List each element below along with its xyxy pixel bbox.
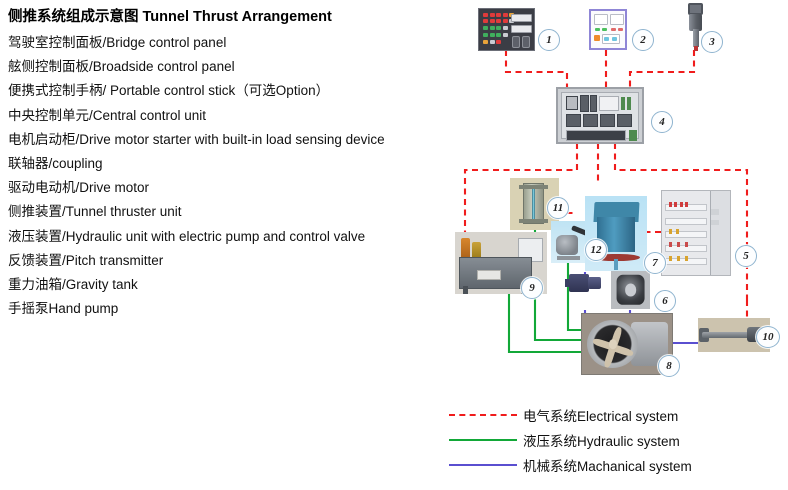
green-module <box>621 97 625 110</box>
badge-3: 3 <box>701 31 723 53</box>
lever-knob <box>512 36 520 48</box>
hydraulic-line-swatch <box>449 439 517 441</box>
plc-module <box>580 95 589 112</box>
legend-row-hydraulic: 液压系统Hydraulic system <box>449 427 788 452</box>
lever-knob <box>522 36 530 48</box>
stick-tip <box>694 46 698 51</box>
motor-nose <box>588 277 601 289</box>
badge-6: 6 <box>654 290 676 312</box>
system-legend: 电气系统Electrical system 液压系统Hydraulic syst… <box>449 402 788 477</box>
transmitter-rod <box>702 332 752 337</box>
central-control-unit[interactable] <box>556 87 644 144</box>
list-item-1: 驾驶室控制面板/Bridge control panel <box>8 31 460 55</box>
broadside-control-panel-image <box>591 11 625 48</box>
list-item-11: 重力油箱/Gravity tank <box>8 273 460 297</box>
badge-8: 8 <box>658 355 680 377</box>
breaker <box>600 114 615 127</box>
thruster-shaft <box>614 259 619 270</box>
legend-row-electrical: 电气系统Electrical system <box>449 402 788 427</box>
badge-10: 10 <box>756 326 780 348</box>
display-window <box>511 14 532 22</box>
starter-cabinet-image <box>662 191 730 275</box>
list-item-6: 联轴器/coupling <box>8 152 460 176</box>
badge-4: 4 <box>651 111 673 133</box>
display-window <box>594 14 608 25</box>
module <box>566 96 578 110</box>
pump-body <box>556 235 578 255</box>
plc-module <box>590 95 597 112</box>
badge-1: 1 <box>538 29 560 51</box>
green-terminal <box>629 130 637 141</box>
pump-base <box>557 256 581 259</box>
motor-body <box>569 274 589 292</box>
terminal-strip <box>599 96 619 111</box>
breaker <box>583 114 598 127</box>
drive-motor-starter-cabinet[interactable] <box>661 190 731 276</box>
page-title: 侧推系统组成示意图 Tunnel Thrust Arrangement <box>8 6 460 28</box>
legend-row-mechanical: 机械系统Machanical system <box>449 452 788 477</box>
tunnel-mouth <box>587 320 637 368</box>
cabinet-interior <box>561 92 639 139</box>
badge-2: 2 <box>632 29 654 51</box>
tank-leg <box>463 286 468 294</box>
legend-label-electrical: 电气系统Electrical system <box>523 405 678 425</box>
propeller-hub <box>609 339 617 349</box>
green-module <box>627 97 631 110</box>
component-list: 侧推系统组成示意图 Tunnel Thrust Arrangement 驾驶室控… <box>8 6 460 321</box>
tank-flange <box>519 185 548 189</box>
badge-11: 11 <box>547 197 569 219</box>
display-window <box>511 25 532 33</box>
tank-flange <box>519 219 548 223</box>
stick-shaft <box>693 29 699 47</box>
electrical-line-swatch <box>449 414 517 416</box>
legend-label-mechanical: 机械系统Machanical system <box>523 455 692 475</box>
bridge-control-panel-image <box>479 9 534 50</box>
button-row <box>483 33 508 37</box>
central-control-unit-image <box>558 89 642 142</box>
breaker <box>617 114 632 127</box>
button-row <box>483 13 514 17</box>
legend-label-hydraulic: 液压系统Hydraulic system <box>523 430 680 450</box>
sight-glass <box>532 186 536 219</box>
terminal-block-row <box>566 130 626 141</box>
list-item-7: 驱动电动机/Drive motor <box>8 176 460 200</box>
display-window <box>610 14 624 25</box>
drive-motor-image <box>565 270 605 296</box>
nameplate <box>477 270 501 280</box>
list-item-5: 电机启动柜/Drive motor starter with built-in … <box>8 128 460 152</box>
coupling[interactable] <box>611 271 650 309</box>
bridge-control-panel[interactable] <box>478 8 535 51</box>
badge-9: 9 <box>521 277 543 299</box>
button-row <box>483 26 508 30</box>
list-item-9: 液压装置/Hydraulic unit with electric pump a… <box>8 225 460 249</box>
list-item-10: 反馈装置/Pitch transmitter <box>8 249 460 273</box>
list-item-4: 中央控制单元/Central control unit <box>8 104 460 128</box>
badge-7: 7 <box>644 252 666 274</box>
list-item-8: 侧推装置/Tunnel thruster unit <box>8 200 460 224</box>
coupling-image <box>611 271 650 309</box>
breaker <box>566 114 581 127</box>
button-row <box>483 19 514 23</box>
drive-motor[interactable] <box>565 270 605 296</box>
list-item-3: 便携式控制手柄/ Portable control stick（可选Option… <box>8 79 460 103</box>
button-row <box>483 40 501 44</box>
din-rail <box>665 218 707 225</box>
list-item-12: 手摇泵Hand pump <box>8 297 460 321</box>
badge-12: 12 <box>585 239 607 261</box>
badge-5: 5 <box>735 245 757 267</box>
mechanical-line-swatch <box>449 464 517 466</box>
thruster-system-diagram: 1 2 3 <box>455 0 788 400</box>
list-item-2: 舷侧控制面板/Broadside control panel <box>8 55 460 79</box>
broadside-control-panel[interactable] <box>589 9 627 50</box>
cabinet-door <box>710 191 730 275</box>
coupling-core <box>625 284 637 297</box>
